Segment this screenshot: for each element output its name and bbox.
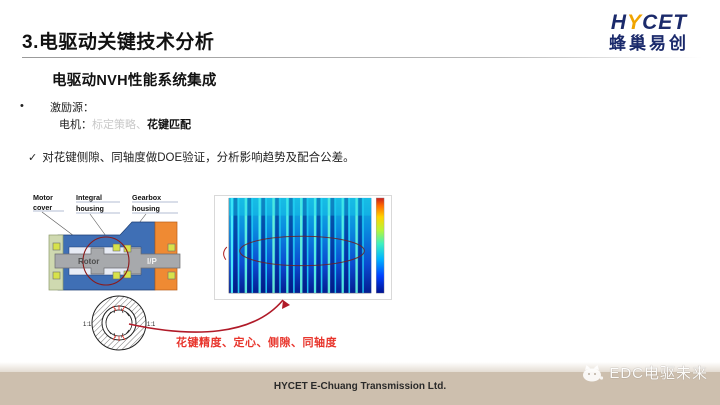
spectrogram-plot (214, 195, 392, 300)
motor-item-active: 花键匹配 (147, 119, 191, 131)
logo-wordmark: HYCET (611, 12, 687, 33)
cross-section-diagram: Motor cover Integral housing Gearbox hou… (28, 192, 200, 304)
spline-tol-left: 1:1 (83, 322, 92, 328)
label-integral: Integral (76, 193, 102, 202)
figure-group: Motor cover Integral housing Gearbox hou… (28, 192, 368, 357)
logo-letter-h: H (611, 11, 627, 34)
label-gearbox: Gearbox (132, 193, 161, 202)
bullet-doe-verification: ✓对花键侧隙、同轴度做DOE验证，分析影响趋势及配合公差。 (28, 149, 355, 165)
label-motor: Motor (33, 193, 53, 202)
spline-callout-text: 花键精度、定心、侧隙、同轴度 (176, 334, 337, 350)
watermark: EDC电驱未来 (580, 362, 708, 383)
check-icon: ✓ (28, 152, 37, 164)
cat-mascot-icon (580, 364, 604, 382)
watermark-text: EDC电驱未来 (609, 362, 708, 383)
motor-item-disabled: 标定策略、 (92, 119, 147, 131)
bullet-doe-text: 对花键侧隙、同轴度做DOE验证，分析影响趋势及配合公差。 (42, 152, 354, 164)
page-subtitle: 电驱动NVH性能系统集成 (52, 69, 217, 90)
hycet-logo: HYCET 蜂巢易创 (594, 12, 704, 52)
label-housing-2: housing (132, 204, 160, 213)
motor-label: 电机： (59, 119, 92, 131)
page-title: 3.电驱动关键技术分析 (22, 27, 214, 54)
logo-letter-y: Y (627, 11, 642, 34)
logo-letters-cet: CET (642, 11, 687, 34)
bullet-excitation-label: 激励源： (50, 99, 94, 115)
title-divider (22, 57, 702, 58)
bullet-motor-line: 电机：标定策略、花键匹配 (59, 116, 191, 132)
slide-root: HYCET 蜂巢易创 3.电驱动关键技术分析 电驱动NVH性能系统集成 • 激励… (0, 0, 720, 405)
logo-chinese-name: 蜂巢易创 (594, 35, 704, 52)
label-ip: I/P (147, 257, 157, 266)
label-rotor: Rotor (78, 257, 99, 266)
bullet-dot-icon: • (20, 100, 24, 112)
label-cover: cover (33, 203, 52, 212)
label-housing-1: housing (76, 204, 104, 213)
